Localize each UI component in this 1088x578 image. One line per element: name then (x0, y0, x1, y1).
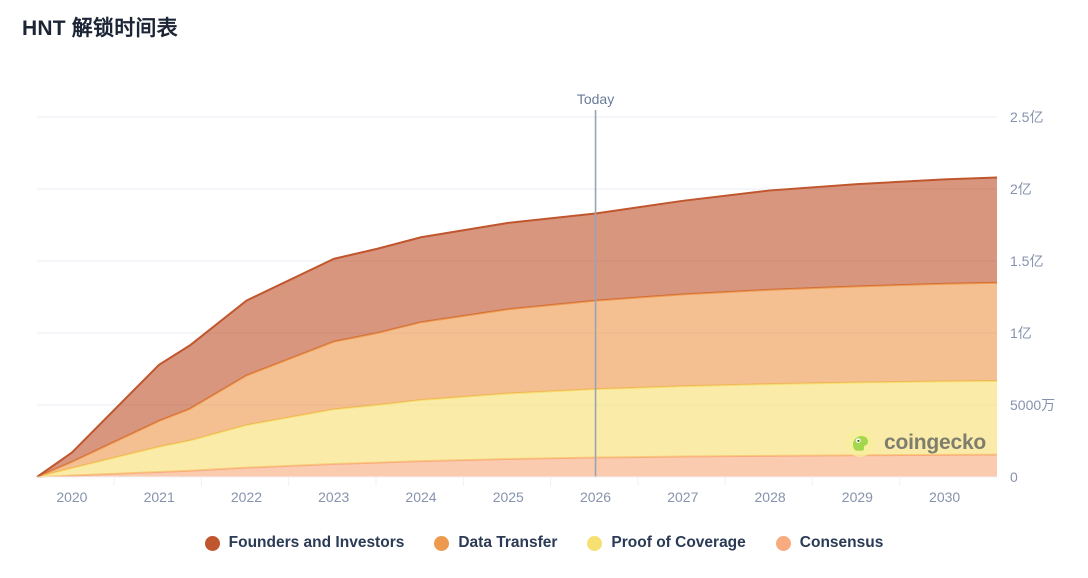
x-axis-tick-label: 2026 (580, 489, 611, 505)
legend-color-swatch-icon (205, 536, 220, 551)
legend-label: Consensus (800, 534, 884, 552)
chart-page: HNT 解锁时间表 Today coingecko 05000万1亿1.5亿2亿… (0, 0, 1088, 578)
x-axis-tick-label: 2025 (493, 489, 524, 505)
coingecko-watermark: coingecko (845, 428, 986, 458)
chart-plot-area[interactable]: Today coingecko 05000万1亿1.5亿2亿2.5亿202020… (0, 0, 1088, 520)
legend-item-data-transfer[interactable]: Data Transfer (434, 534, 557, 552)
x-axis-tick-label: 2028 (755, 489, 786, 505)
y-axis-tick-label: 0 (1010, 469, 1018, 485)
gecko-icon (845, 428, 875, 458)
legend-item-consensus[interactable]: Consensus (776, 534, 884, 552)
legend-label: Proof of Coverage (611, 534, 745, 552)
legend-color-swatch-icon (776, 536, 791, 551)
watermark-text: coingecko (884, 431, 986, 455)
x-axis-tick-label: 2029 (842, 489, 873, 505)
legend-label: Founders and Investors (229, 534, 405, 552)
legend-item-proof-of-coverage[interactable]: Proof of Coverage (587, 534, 745, 552)
y-axis-tick-label: 2亿 (1010, 179, 1032, 199)
y-axis-tick-label: 2.5亿 (1010, 107, 1043, 127)
legend-item-founders-and-investors[interactable]: Founders and Investors (205, 534, 405, 552)
x-axis-tick-label: 2020 (56, 489, 87, 505)
today-marker-label: Today (577, 91, 614, 107)
chart-legend: Founders and InvestorsData TransferProof… (0, 534, 1088, 552)
legend-color-swatch-icon (434, 536, 449, 551)
x-axis-tick-label: 2024 (405, 489, 436, 505)
x-axis-tick-label: 2027 (667, 489, 698, 505)
legend-label: Data Transfer (458, 534, 557, 552)
x-axis-tick-label: 2021 (144, 489, 175, 505)
y-axis-tick-label: 5000万 (1010, 395, 1055, 415)
x-axis-tick-label: 2030 (929, 489, 960, 505)
y-axis-tick-label: 1.5亿 (1010, 251, 1043, 271)
y-axis-tick-label: 1亿 (1010, 323, 1032, 343)
x-axis-tick-label: 2022 (231, 489, 262, 505)
x-axis-tick-label: 2023 (318, 489, 349, 505)
legend-color-swatch-icon (587, 536, 602, 551)
